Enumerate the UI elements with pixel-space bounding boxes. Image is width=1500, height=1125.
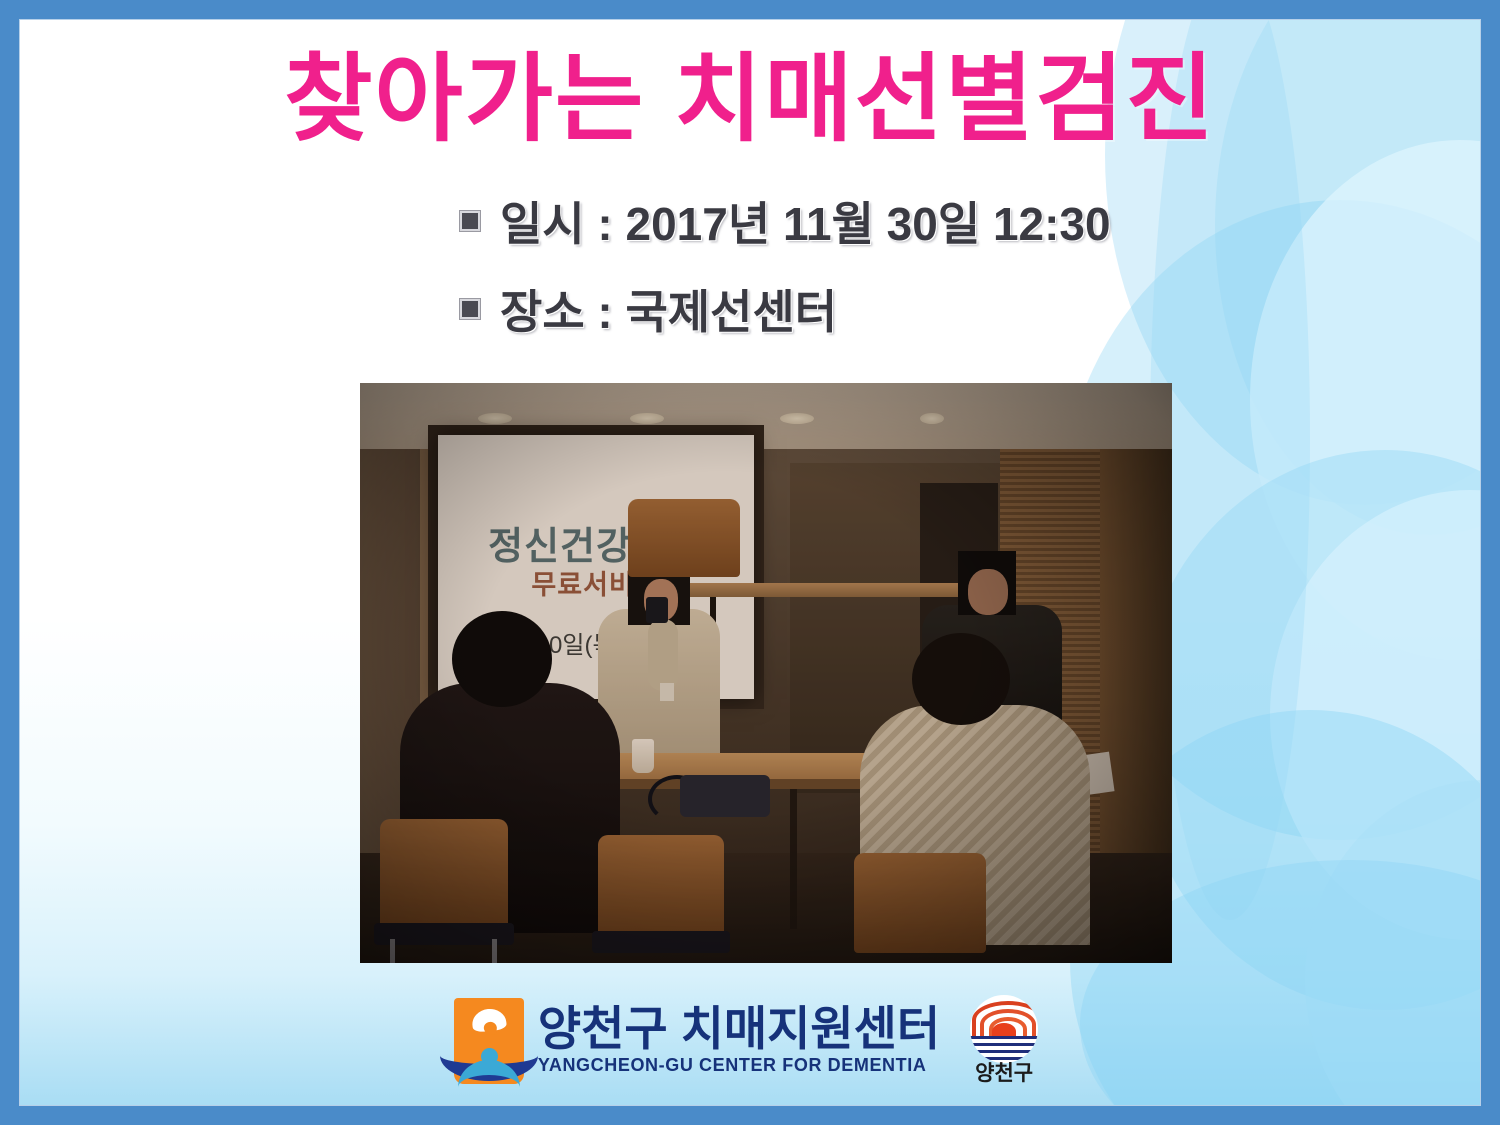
emblem-label: 양천구 xyxy=(962,1057,1046,1087)
emblem-oval xyxy=(970,995,1038,1063)
blue-blob-4 xyxy=(1250,140,1480,660)
dove-icon xyxy=(471,1007,507,1032)
center-name-ko: 양천구 치매지원센터 xyxy=(538,1004,940,1053)
square-bullet-icon xyxy=(460,211,480,231)
center-logo-text: 양천구 치매지원센터 YANGCHEON-GU CENTER FOR DEMEN… xyxy=(538,1004,940,1079)
slide-canvas: 찾아가는 치매선별검진 일시 : 2017년 11월 30일 12:30 장소 … xyxy=(20,20,1480,1105)
bullet-place-text: 장소 : 국제선센터 xyxy=(500,276,837,342)
bullet-list: 일시 : 2017년 11월 30일 12:30 장소 : 국제선센터 xyxy=(460,188,1111,364)
event-photo-container: 정신건강상담 무료서비스 11월30일(목) 12:30~ xyxy=(340,363,1192,983)
yangcheon-gu-emblem: 양천구 xyxy=(962,995,1046,1087)
photo-vignette xyxy=(360,383,1172,963)
bullet-date-text: 일시 : 2017년 11월 30일 12:30 xyxy=(500,188,1111,254)
person-body-icon xyxy=(458,1060,520,1105)
event-photo: 정신건강상담 무료서비스 11월30일(목) 12:30~ xyxy=(360,383,1172,963)
square-bullet-icon xyxy=(460,299,480,319)
center-logo-mark-icon xyxy=(454,998,524,1084)
bullet-item-date: 일시 : 2017년 11월 30일 12:30 xyxy=(460,188,1111,254)
blue-blob-6 xyxy=(1270,490,1480,940)
footer-logos: 양천구 치매지원센터 YANGCHEON-GU CENTER FOR DEMEN… xyxy=(20,995,1480,1087)
person-figure-icon xyxy=(464,1048,514,1088)
bullet-item-place: 장소 : 국제선센터 xyxy=(460,276,1111,342)
center-name-en: YANGCHEON-GU CENTER FOR DEMENTIA xyxy=(538,1053,940,1078)
footer: 양천구 치매지원센터 YANGCHEON-GU CENTER FOR DEMEN… xyxy=(20,965,1480,1105)
page-title: 찾아가는 치매선별검진 xyxy=(20,52,1480,148)
slide-frame: 찾아가는 치매선별검진 일시 : 2017년 11월 30일 12:30 장소 … xyxy=(0,0,1500,1125)
